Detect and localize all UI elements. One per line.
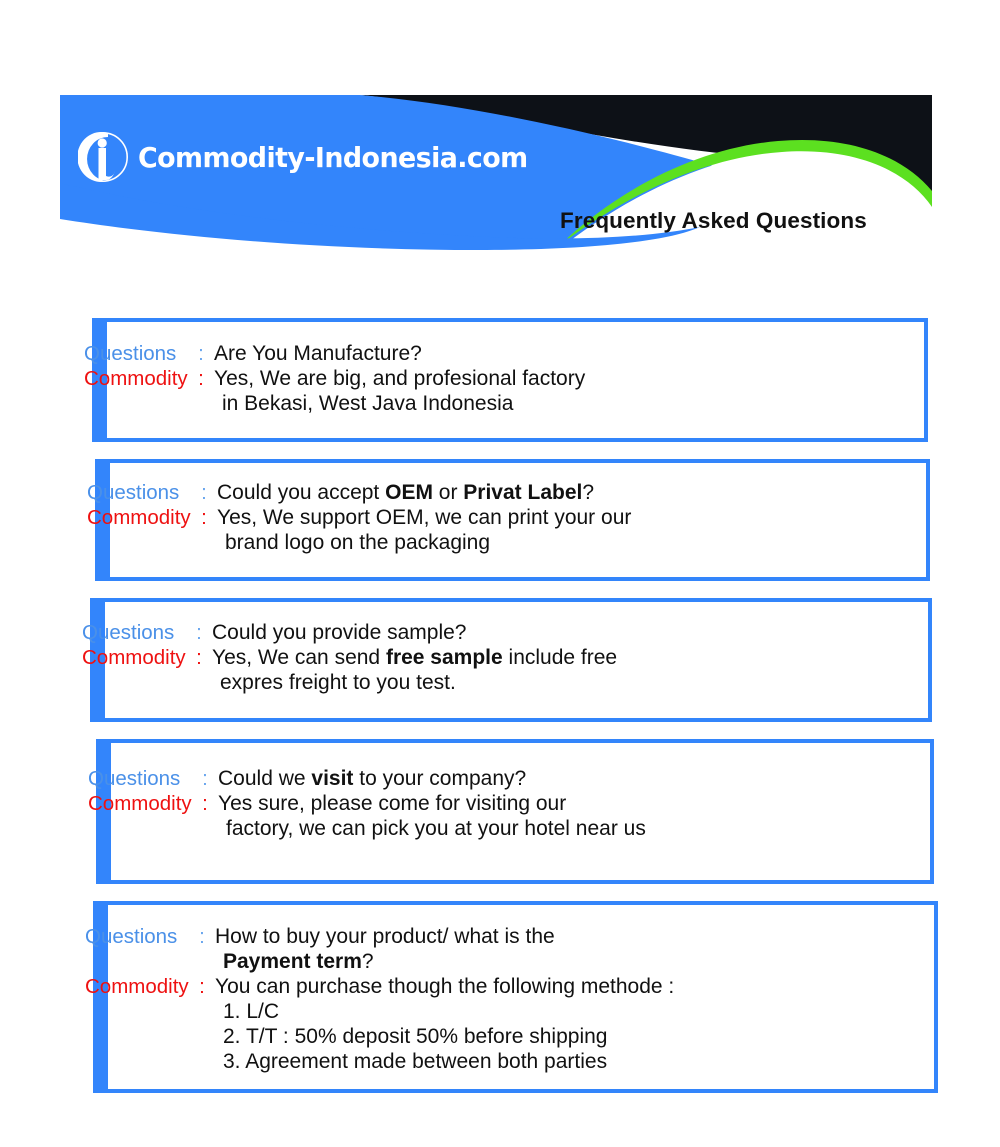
faq-page: { "header": { "logo_text": "Commodity-In…: [0, 0, 1000, 1147]
answer-label: Commodity: [85, 975, 189, 999]
faq-question-continuation-row: Payment term?: [93, 950, 938, 975]
faq-answer-row: Commodity : Yes sure, please come for vi…: [96, 792, 934, 817]
faq-method-row: 2. T/T : 50% deposit 50% before shipping: [93, 1025, 938, 1050]
faq-answer-text: Yes sure, please come for visiting our: [218, 792, 934, 816]
faq-answer-continuation-row: factory, we can pick you at your hotel n…: [96, 817, 934, 842]
faq-item-5: Questions : How to buy your product/ wha…: [93, 901, 938, 1093]
faq-answer-text: Yes, We are big, and profesional factory: [214, 367, 928, 391]
logo-text: Commodity-Indonesia.com: [138, 141, 528, 174]
faq-question-row: Questions : Are You Manufacture?: [92, 342, 928, 367]
faq-answer-text: Yes, We can send free sample include fre…: [212, 646, 932, 670]
question-label: Questions: [85, 925, 189, 949]
page-header: Commodity-Indonesia.com Frequently Asked…: [60, 95, 932, 250]
faq-answer-text-line2: brand logo on the packaging: [225, 531, 490, 555]
faq-answer-row: Commodity : Yes, We can send free sample…: [90, 646, 932, 671]
question-colon: :: [189, 925, 215, 949]
faq-method-row: 1. L/C: [93, 1000, 938, 1025]
faq-method-row: 3. Agreement made between both parties: [93, 1050, 938, 1075]
answer-colon: :: [186, 646, 212, 670]
answer-label: Commodity: [82, 646, 186, 670]
answer-colon: :: [191, 506, 217, 530]
faq-answer-text-line2: expres freight to you test.: [220, 671, 456, 695]
faq-item-4: Questions : Could we visit to your compa…: [96, 739, 934, 884]
payment-method-3: 3. Agreement made between both parties: [223, 1050, 607, 1074]
faq-answer-continuation-row: in Bekasi, West Java Indonesia: [92, 392, 928, 417]
answer-colon: :: [192, 792, 218, 816]
faq-item-3: Questions : Could you provide sample? Co…: [90, 598, 932, 722]
question-colon: :: [192, 767, 218, 791]
faq-question-text: How to buy your product/ what is the: [215, 925, 938, 949]
faq-question-text: Are You Manufacture?: [214, 342, 928, 366]
payment-method-2: 2. T/T : 50% deposit 50% before shipping: [223, 1025, 607, 1049]
faq-question-text: Could you accept OEM or Privat Label?: [217, 481, 930, 505]
question-colon: :: [188, 342, 214, 366]
answer-colon: :: [189, 975, 215, 999]
answer-label: Commodity: [87, 506, 191, 530]
question-colon: :: [191, 481, 217, 505]
question-label: Questions: [84, 342, 188, 366]
faq-answer-row: Commodity : Yes, We are big, and profesi…: [92, 367, 928, 392]
c-i-circle-logo-icon: [78, 130, 128, 184]
faq-answer-continuation-row: expres freight to you test.: [90, 671, 932, 696]
page-title: Frequently Asked Questions: [560, 208, 867, 234]
faq-question-text-line2: Payment term?: [223, 950, 374, 974]
question-colon: :: [186, 621, 212, 645]
payment-method-1: 1. L/C: [223, 1000, 279, 1024]
answer-label: Commodity: [88, 792, 192, 816]
answer-colon: :: [188, 367, 214, 391]
faq-question-row: Questions : Could you accept OEM or Priv…: [95, 481, 930, 506]
logo: Commodity-Indonesia.com: [78, 130, 544, 184]
faq-answer-text: You can purchase though the following me…: [215, 975, 938, 999]
faq-answer-continuation-row: brand logo on the packaging: [95, 531, 930, 556]
question-label: Questions: [82, 621, 186, 645]
faq-question-text: Could we visit to your company?: [218, 767, 934, 791]
faq-answer-text-line2: in Bekasi, West Java Indonesia: [222, 392, 513, 416]
question-label: Questions: [88, 767, 192, 791]
faq-question-row: Questions : Could we visit to your compa…: [96, 767, 934, 792]
faq-item-2: Questions : Could you accept OEM or Priv…: [95, 459, 930, 581]
faq-item-1: Questions : Are You Manufacture? Commodi…: [92, 318, 928, 442]
question-label: Questions: [87, 481, 191, 505]
faq-answer-row: Commodity : You can purchase though the …: [93, 975, 938, 1000]
answer-label: Commodity: [84, 367, 188, 391]
faq-question-row: Questions : How to buy your product/ wha…: [93, 925, 938, 950]
faq-answer-text-line2: factory, we can pick you at your hotel n…: [226, 817, 646, 841]
faq-question-row: Questions : Could you provide sample?: [90, 621, 932, 646]
faq-list: Questions : Are You Manufacture? Commodi…: [0, 318, 1000, 1110]
faq-question-text: Could you provide sample?: [212, 621, 932, 645]
faq-answer-row: Commodity : Yes, We support OEM, we can …: [95, 506, 930, 531]
faq-answer-text: Yes, We support OEM, we can print your o…: [217, 506, 930, 530]
